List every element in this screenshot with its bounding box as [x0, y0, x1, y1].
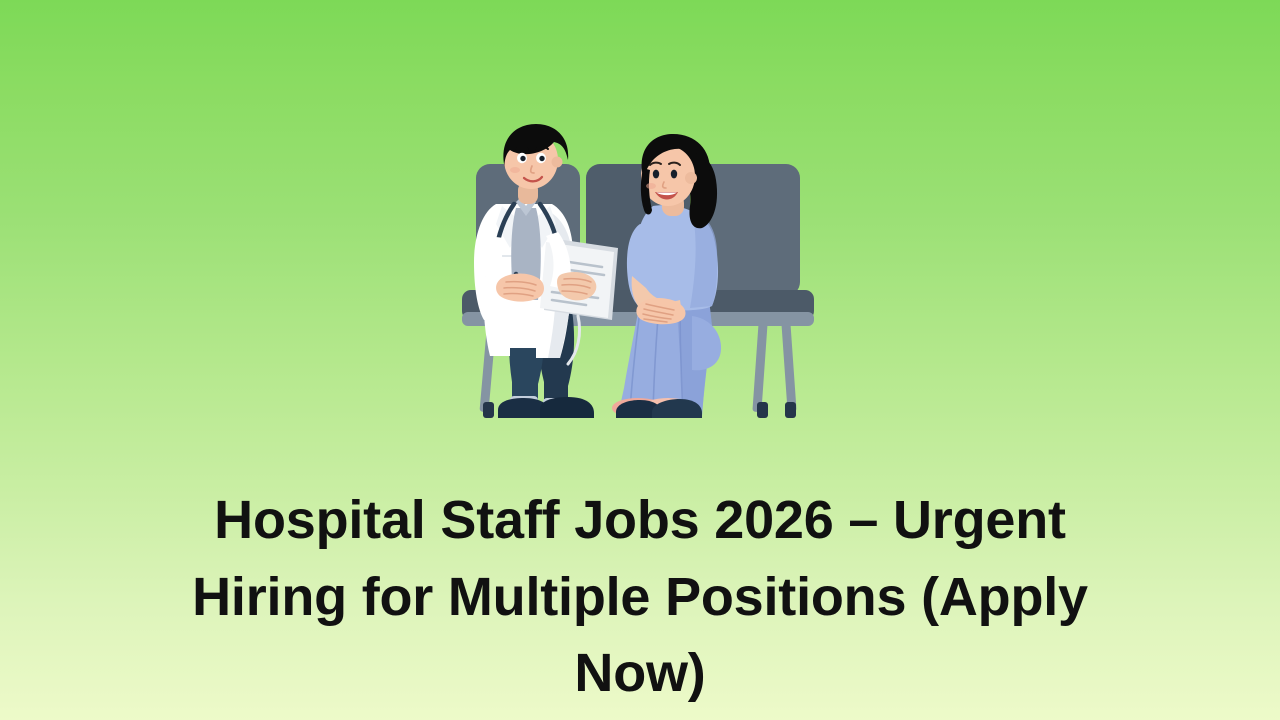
doctor-shoe-right — [540, 397, 594, 418]
patient-feet — [612, 398, 702, 418]
doctor-pupil-right — [539, 156, 544, 161]
page-title: Hospital Staff Jobs 2026 – Urgent Hiring… — [160, 482, 1120, 712]
doctor-pupil-left — [520, 156, 525, 161]
doctor-patient-illustration-svg — [440, 120, 840, 430]
page-root: Hospital Staff Jobs 2026 – Urgent Hiring… — [0, 0, 1280, 720]
patient-cheek-blush — [646, 183, 656, 189]
patient-eye-left — [653, 170, 659, 179]
doctor-cheek-blush — [510, 167, 520, 173]
hero-illustration — [440, 120, 840, 430]
patient-ear — [685, 172, 697, 184]
patient-eye-right — [671, 170, 677, 179]
doctor-ear — [552, 157, 563, 168]
